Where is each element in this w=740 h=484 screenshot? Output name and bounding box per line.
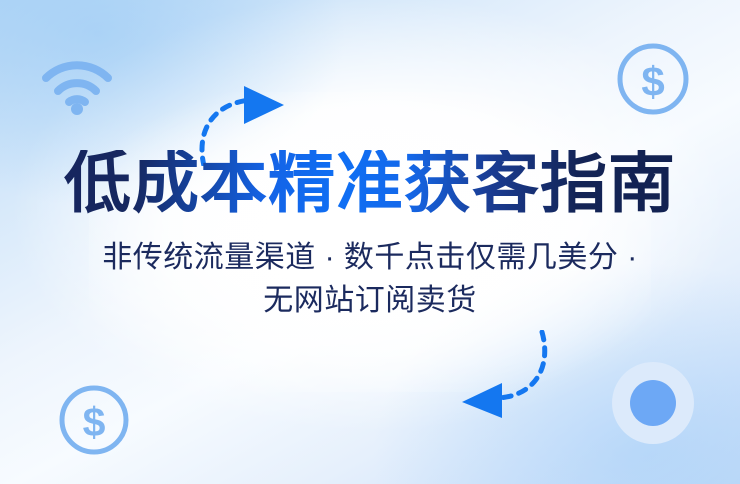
dollar-circle-icon-2: $ (56, 382, 132, 458)
dollar-circle-icon: $ (614, 40, 692, 118)
poster-canvas: $ $ 低成本精准获客指南 非传统流量渠道 · 数千点击仅需几美分 · (0, 0, 740, 484)
wifi-icon (38, 46, 116, 116)
poster-subtitle: 非传统流量渠道 · 数千点击仅需几美分 · 无网站订阅卖货 (50, 237, 690, 322)
concentric-dot-icon (610, 360, 696, 446)
poster-text-block: 低成本精准获客指南 非传统流量渠道 · 数千点击仅需几美分 · 无网站订阅卖货 (0, 150, 740, 322)
svg-text:$: $ (83, 399, 106, 445)
page-title: 低成本精准获客指南 (0, 150, 740, 217)
subtitle-line-2: 无网站订阅卖货 (50, 280, 690, 323)
svg-text:$: $ (641, 58, 664, 105)
subtitle-line-1: 非传统流量渠道 · 数千点击仅需几美分 · (50, 237, 690, 280)
dashed-arrow-left-icon (448, 330, 560, 418)
